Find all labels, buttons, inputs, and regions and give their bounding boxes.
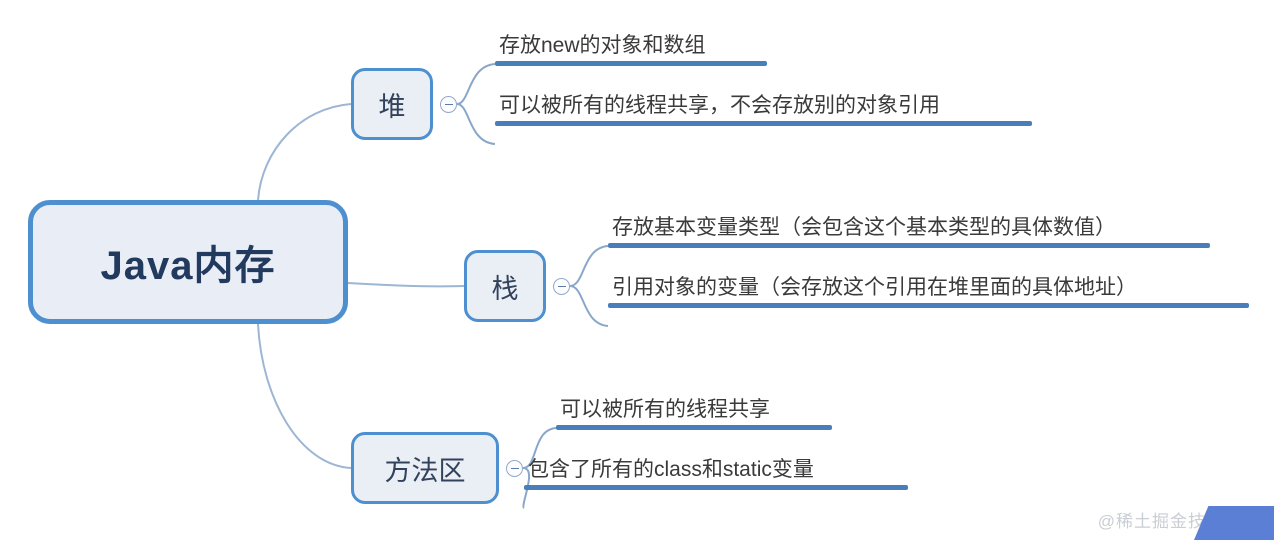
leaf-stack-1: 存放基本变量类型（会包含这个基本类型的具体数值） xyxy=(608,215,1210,248)
branch-node-stack-label: 栈 xyxy=(492,267,519,306)
leaf-stack-1-underline xyxy=(608,243,1210,248)
collapse-minus-icon-stack[interactable] xyxy=(553,278,570,295)
leaf-heap-1-underline xyxy=(495,61,767,66)
edge-stack-to-leaf-2 xyxy=(570,286,608,326)
edge-stack-to-leaf-1 xyxy=(570,246,608,286)
branch-node-heap[interactable]: 堆 xyxy=(351,68,433,140)
edge-root-to-stack xyxy=(348,283,464,286)
edge-root-to-method-area xyxy=(258,324,351,468)
edge-root-to-heap xyxy=(258,104,351,200)
leaf-heap-1-text: 存放new的对象和数组 xyxy=(495,33,767,61)
leaf-stack-2-underline xyxy=(608,303,1249,308)
edge-heap-to-leaf-2 xyxy=(457,104,495,144)
leaf-stack-2: 引用对象的变量（会存放这个引用在堆里面的具体地址） xyxy=(608,275,1249,308)
leaf-method-area-1-underline xyxy=(556,425,832,430)
branch-node-stack[interactable]: 栈 xyxy=(464,250,546,322)
leaf-method-area-2: 包含了所有的class和static变量 xyxy=(524,457,908,490)
leaf-heap-2-underline xyxy=(495,121,1032,126)
leaf-method-area-1-text: 可以被所有的线程共享 xyxy=(556,397,832,425)
branch-node-method-area[interactable]: 方法区 xyxy=(351,432,499,504)
collapse-minus-icon-heap[interactable] xyxy=(440,96,457,113)
root-node[interactable]: Java内存 xyxy=(28,200,348,324)
leaf-method-area-2-underline xyxy=(524,485,908,490)
leaf-heap-2-text: 可以被所有的线程共享，不会存放别的对象引用 xyxy=(495,93,1032,121)
mindmap-canvas: Java内存 堆 存放new的对象和数组 可以被所有的线程共享，不会存放别的对象… xyxy=(0,0,1274,540)
branch-node-heap-label: 堆 xyxy=(379,85,406,124)
branch-node-method-area-label: 方法区 xyxy=(385,449,466,488)
leaf-method-area-2-text: 包含了所有的class和static变量 xyxy=(524,457,908,485)
leaf-stack-2-text: 引用对象的变量（会存放这个引用在堆里面的具体地址） xyxy=(608,275,1249,303)
collapse-minus-icon-method-area[interactable] xyxy=(506,460,523,477)
leaf-method-area-1: 可以被所有的线程共享 xyxy=(556,397,832,430)
leaf-heap-1: 存放new的对象和数组 xyxy=(495,33,767,66)
leaf-stack-1-text: 存放基本变量类型（会包含这个基本类型的具体数值） xyxy=(608,215,1210,243)
root-node-label: Java内存 xyxy=(101,233,276,291)
edge-heap-to-leaf-1 xyxy=(457,64,495,104)
leaf-heap-2: 可以被所有的线程共享，不会存放别的对象引用 xyxy=(495,93,1032,126)
